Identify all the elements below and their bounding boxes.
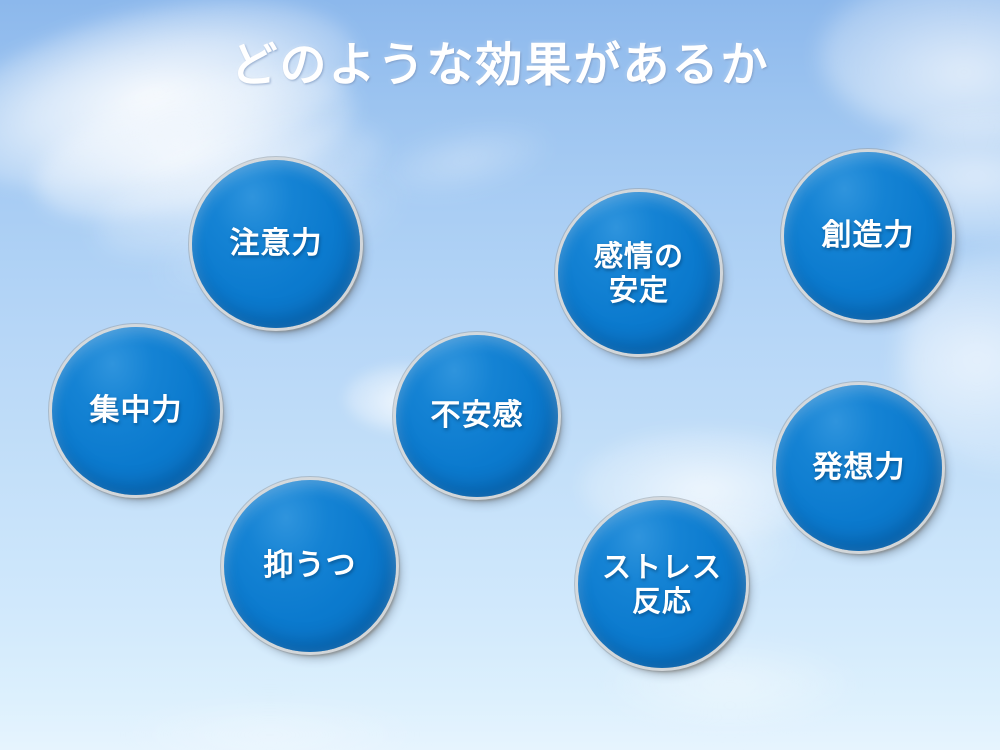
bubble-attention[interactable]: 注意力 [192, 160, 360, 328]
bubble-stress-response[interactable]: ストレス 反応 [578, 500, 746, 668]
bubble-label: 創造力 [816, 218, 921, 253]
bubble-label: 感情の 安定 [588, 239, 690, 307]
bubble-label: 集中力 [84, 393, 189, 428]
cloud-shape [120, 700, 420, 750]
bubble-label: 不安感 [425, 398, 530, 433]
bubble-anxiety[interactable]: 不安感 [396, 335, 558, 497]
bubble-depression[interactable]: 抑うつ [224, 480, 396, 652]
bubble-label: ストレス 反応 [596, 550, 728, 618]
bubble-emotional-stability[interactable]: 感情の 安定 [558, 192, 720, 354]
bubble-label: 抑うつ [258, 548, 363, 583]
bubble-label: 注意力 [224, 226, 329, 261]
bubble-concentration[interactable]: 集中力 [52, 327, 220, 495]
slide-title: どのような効果があるか [0, 40, 1000, 92]
slide-canvas: どのような効果があるか 注意力感情の 安定創造力集中力不安感発想力抑うつストレス… [0, 0, 1000, 750]
bubble-creativity[interactable]: 創造力 [784, 152, 952, 320]
bubble-label: 発想力 [807, 450, 912, 485]
bubble-ideation[interactable]: 発想力 [776, 385, 942, 551]
cloud-shape [376, 113, 555, 207]
